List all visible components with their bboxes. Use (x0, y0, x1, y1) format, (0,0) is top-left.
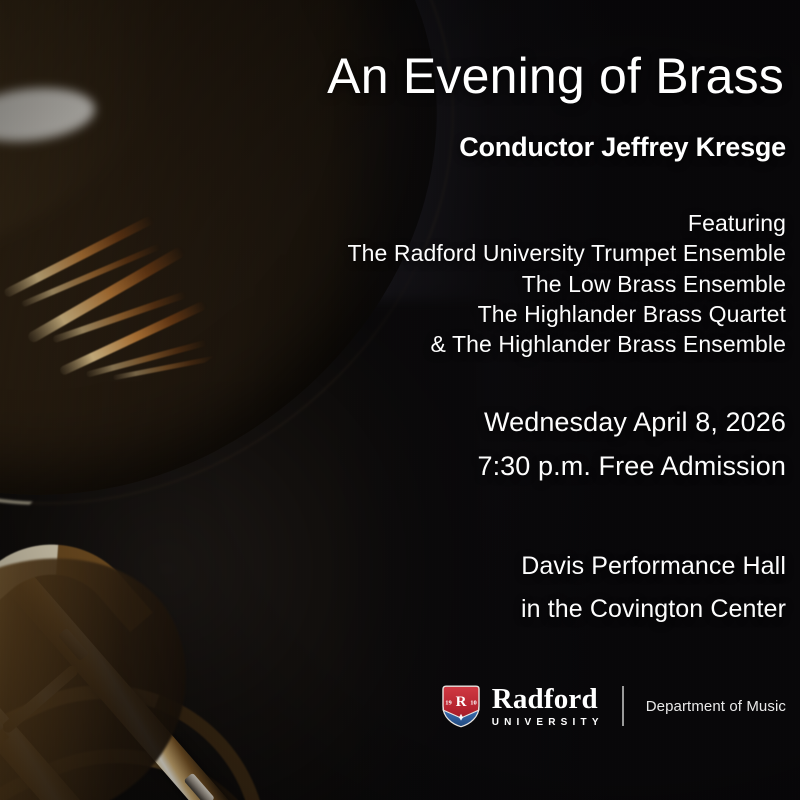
ensemble-item: The Low Brass Ensemble (347, 269, 786, 299)
venue-block: Davis Performance Hall in the Covington … (521, 545, 786, 631)
ensemble-item: The Highlander Brass Quartet (347, 299, 786, 329)
wordmark-radford: Radford (492, 685, 598, 714)
venue-building: in the Covington Center (521, 588, 786, 631)
logo-divider (622, 686, 624, 726)
svg-text:10: 10 (470, 700, 477, 707)
venue-hall: Davis Performance Hall (521, 545, 786, 588)
event-datetime-block: Wednesday April 8, 2026 7:30 p.m. Free A… (477, 401, 786, 488)
event-time-admission: 7:30 p.m. Free Admission (477, 445, 786, 489)
wordmark-university: UNIVERSITY (492, 718, 604, 728)
event-date: Wednesday April 8, 2026 (477, 401, 786, 445)
poster-title: An Evening of Brass (327, 50, 784, 103)
conductor-line: Conductor Jeffrey Kresge (459, 133, 786, 163)
radford-wordmark: Radford UNIVERSITY (492, 685, 604, 728)
ensemble-item: The Radford University Trumpet Ensemble (347, 238, 786, 268)
featuring-block: Featuring The Radford University Trumpet… (347, 208, 786, 360)
svg-text:19: 19 (445, 700, 452, 707)
radford-university-logo-lockup: R 19 10 Radford UNIVERSITY Department of… (441, 682, 786, 730)
radford-shield-icon: R 19 10 (441, 684, 481, 728)
svg-text:R: R (455, 694, 466, 710)
poster-text-column: An Evening of Brass Conductor Jeffrey Kr… (0, 0, 800, 800)
department-label: Department of Music (646, 698, 786, 715)
ensemble-item: & The Highlander Brass Ensemble (347, 329, 786, 359)
featuring-heading: Featuring (347, 208, 786, 238)
concert-poster: An Evening of Brass Conductor Jeffrey Kr… (0, 0, 800, 800)
